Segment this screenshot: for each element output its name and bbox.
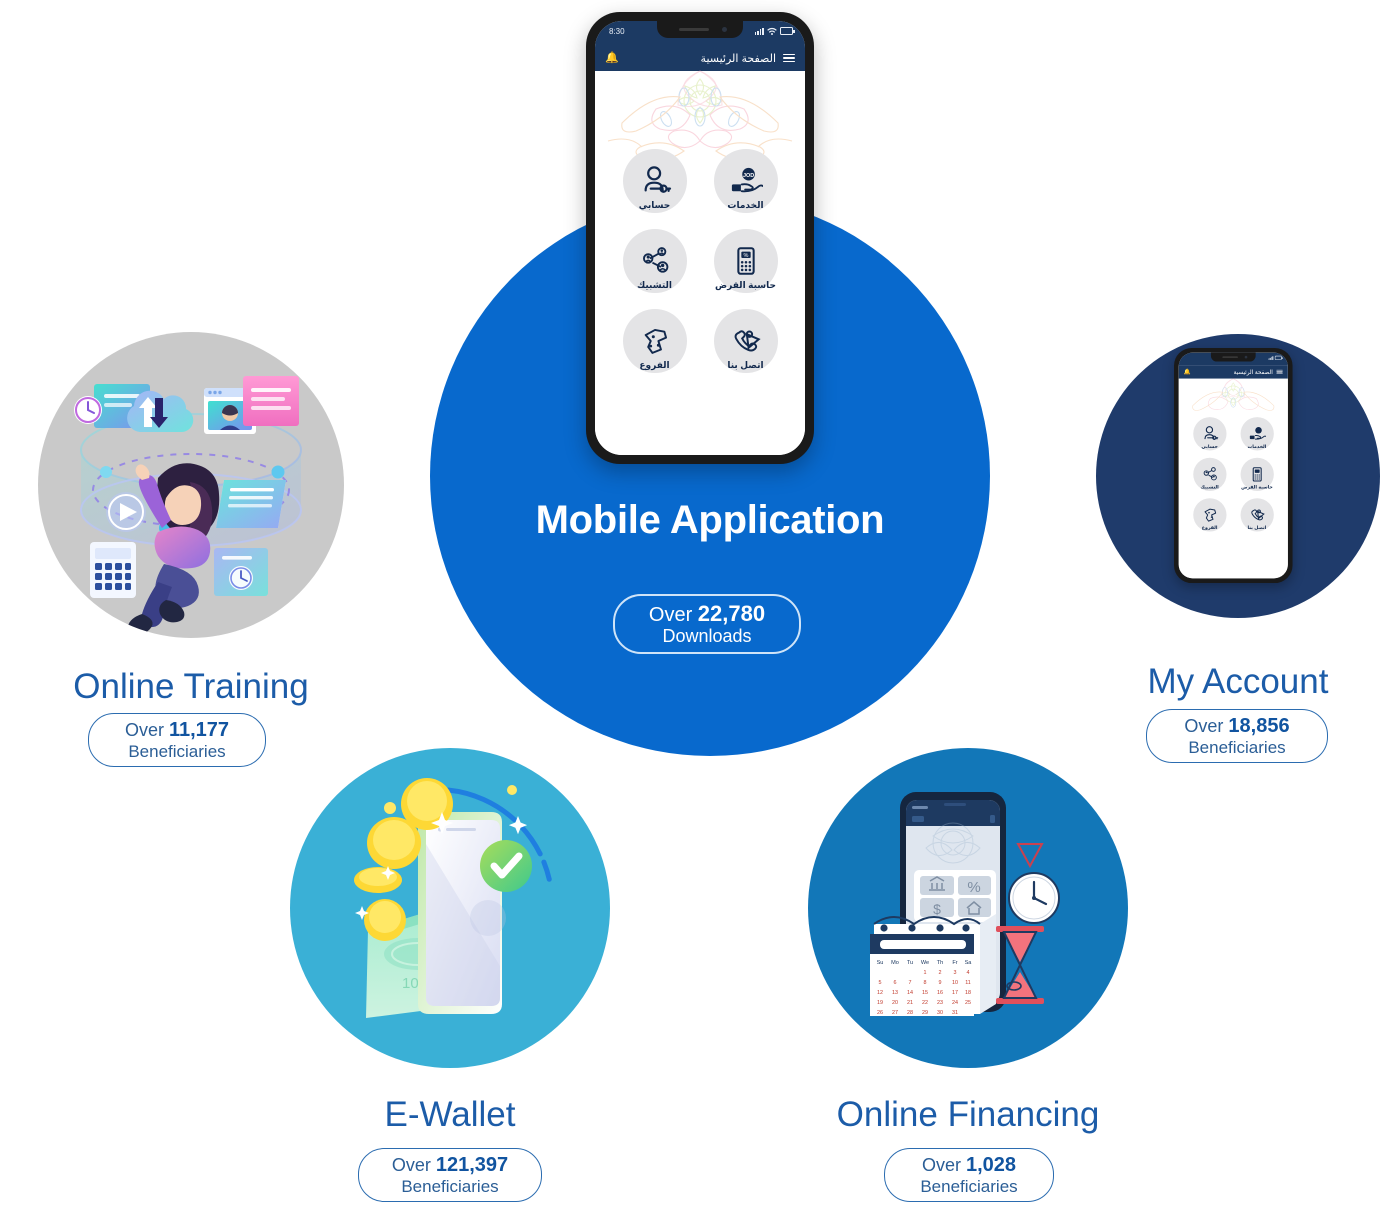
dollar-icon: $ [933,901,941,917]
bell-icon[interactable]: 🔔 [1184,369,1191,375]
svg-text:21: 21 [907,1000,913,1006]
phone-screen: 8:30 🔔 الصفحة ال [595,21,805,455]
svg-text:13: 13 [892,990,898,996]
phone-screen: 🔔 الصفحة الرئيسية [1179,353,1288,579]
tile-label: حاسبة القرض [715,280,776,291]
svg-text:10: 10 [952,980,958,986]
svg-text:1: 1 [924,970,927,976]
app-bar-right: الصفحة الرئيسية [701,52,795,65]
app-tile-my-account[interactable]: حسابي [1186,417,1233,449]
tile-label: الفروع [639,360,669,371]
status-indicators [755,27,793,35]
wifi-icon [767,27,777,35]
svg-text:24: 24 [952,1000,958,1006]
svg-text:26: 26 [877,1010,883,1016]
svg-text:22: 22 [922,1000,928,1006]
hero-badge-prefix: Over [649,604,692,626]
signal-bars-icon [755,27,764,35]
app-bar-title: الصفحة الرئيسية [701,52,776,65]
online-training-badge: Over 11,177 Beneficiaries [88,713,266,767]
tile-label: التشبيك [637,280,672,291]
my-account-title: My Account [1096,662,1380,702]
svg-text:JOD: JOD [742,173,753,179]
svg-text:9: 9 [939,980,942,986]
e-wallet-artwork: 100 [290,748,610,1068]
online-training-title: Online Training [38,667,344,707]
app-tile-branches[interactable]: الفروع [609,309,700,371]
app-tile-grid: JOD الخدمات [595,149,805,371]
svg-text:23: 23 [937,1000,943,1006]
badge-prefix: Over [922,1155,961,1175]
online-financing-artwork: % $ PAY [808,748,1128,1068]
svg-text:30: 30 [937,1010,943,1016]
app-tile-networking[interactable]: التشبيك [1186,458,1233,490]
phone-status-bar [1179,353,1288,365]
training-artwork [38,332,344,638]
svg-text:19: 19 [877,1000,883,1006]
earpiece-speaker [679,28,709,31]
svg-text:6: 6 [894,980,897,986]
svg-text:29: 29 [922,1010,928,1016]
earpiece-speaker [1222,356,1238,358]
phone-notch [657,21,743,38]
e-wallet-title: E-Wallet [290,1095,610,1135]
online-financing-title: Online Financing [808,1095,1128,1135]
phone-home-content: JOD الخدمات [595,71,805,455]
phone-notch [1211,353,1256,362]
svg-text:17: 17 [952,990,958,996]
online-financing-badge: Over 1,028 Beneficiaries [884,1148,1054,1202]
svg-text:15: 15 [922,990,928,996]
tile-label: حسابي [1201,444,1217,450]
infographic-canvas: Online Training Over 11,177 Beneficiarie… [0,0,1400,1230]
badge-prefix: Over [392,1155,431,1175]
tile-label: اتصل بنا [1247,525,1266,531]
svg-text:We: We [921,960,929,966]
my-account-badge: Over 18,856 Beneficiaries [1146,709,1328,763]
svg-text:31: 31 [952,1010,958,1016]
front-camera-icon [722,27,727,32]
svg-text:20: 20 [892,1000,898,1006]
badge-value: 11,177 [169,719,229,741]
svg-text:12: 12 [877,990,883,996]
app-tile-services[interactable]: JOD الخدمات [700,149,791,211]
svg-text:Mo: Mo [891,960,899,966]
app-tile-networking[interactable]: التشبيك [609,229,700,291]
svg-text:Su: Su [877,960,884,966]
hero-badge-value: 22,780 [698,601,765,626]
online-training-illustration [38,332,344,638]
tile-label: الفروع [1202,525,1218,531]
badge-value: 18,856 [1228,715,1289,737]
svg-text:3: 3 [954,970,957,976]
badge-value: 121,397 [436,1154,508,1176]
phone-status-bar: 8:30 [595,21,805,45]
badge-unit: Beneficiaries [920,1177,1017,1196]
badge-value: 1,028 [966,1154,1016,1176]
signal-bars-icon [1268,356,1273,360]
tile-label: التشبيك [1201,484,1219,490]
battery-icon [780,27,793,35]
app-tile-contact-us[interactable]: اتصل بنا [1233,498,1280,530]
svg-text:Sa: Sa [965,960,973,966]
svg-text:28: 28 [907,1010,913,1016]
svg-text:2: 2 [939,970,942,976]
svg-text:5: 5 [879,980,882,986]
svg-text:11: 11 [965,980,971,986]
hamburger-menu-icon[interactable] [1276,370,1282,375]
downloads-badge: Over 22,780 Downloads [613,594,801,654]
tile-label: الخدمات [1248,444,1267,450]
hamburger-menu-icon[interactable] [783,54,795,63]
svg-text:8: 8 [924,980,927,986]
svg-text:Th: Th [937,960,944,966]
badge-unit: Beneficiaries [128,742,225,761]
hero-title: Mobile Application [430,498,990,543]
app-bar-title: الصفحة الرئيسية [1234,369,1273,376]
svg-text:14: 14 [907,990,913,996]
my-account-phone-mockup: 🔔 الصفحة الرئيسية [1174,348,1293,583]
app-tile-grid: الخدمات حسابي [1179,417,1288,530]
app-tile-my-account[interactable]: حسابي [609,149,700,211]
app-tile-loan-calculator[interactable]: % حاسبة القرض [700,229,791,291]
hero-badge-unit: Downloads [662,627,751,646]
app-tile-branches[interactable]: الفروع [1186,498,1233,530]
status-time: 8:30 [609,27,625,36]
app-tile-services[interactable]: الخدمات [1233,417,1280,449]
tile-label: اتصل بنا [727,360,763,371]
online-financing-illustration: % $ PAY [808,748,1128,1068]
tile-label: الخدمات [727,200,763,211]
svg-text:16: 16 [937,990,943,996]
svg-text:25: 25 [965,1000,971,1006]
status-indicators [1268,356,1281,360]
svg-text:Tu: Tu [907,960,913,966]
hero-phone-mockup: 8:30 🔔 الصفحة ال [586,12,814,464]
svg-text:18: 18 [965,990,971,996]
e-wallet-badge: Over 121,397 Beneficiaries [358,1148,542,1202]
badge-prefix: Over [125,720,164,740]
battery-icon [1275,356,1282,360]
e-wallet-illustration: 100 [290,748,610,1068]
front-camera-icon [1245,356,1248,359]
phone-home-content: الخدمات حسابي [1179,379,1288,579]
badge-unit: Beneficiaries [1188,738,1285,757]
svg-text:4: 4 [967,970,970,976]
percent-icon: % [967,879,980,896]
tile-label: حسابي [639,200,671,211]
app-bar-right: الصفحة الرئيسية [1234,369,1283,376]
svg-text:%: % [743,253,748,259]
svg-text:Fr: Fr [952,960,957,966]
badge-prefix: Over [1184,716,1223,736]
app-tile-loan-calculator[interactable]: حاسبة القرض [1233,458,1280,490]
svg-text:27: 27 [892,1010,898,1016]
tile-label: حاسبة القرض [1241,484,1273,490]
app-tile-contact-us[interactable]: اتصل بنا [700,309,791,371]
badge-unit: Beneficiaries [401,1177,498,1196]
bell-icon[interactable]: 🔔 [605,53,619,64]
svg-text:7: 7 [909,980,912,986]
